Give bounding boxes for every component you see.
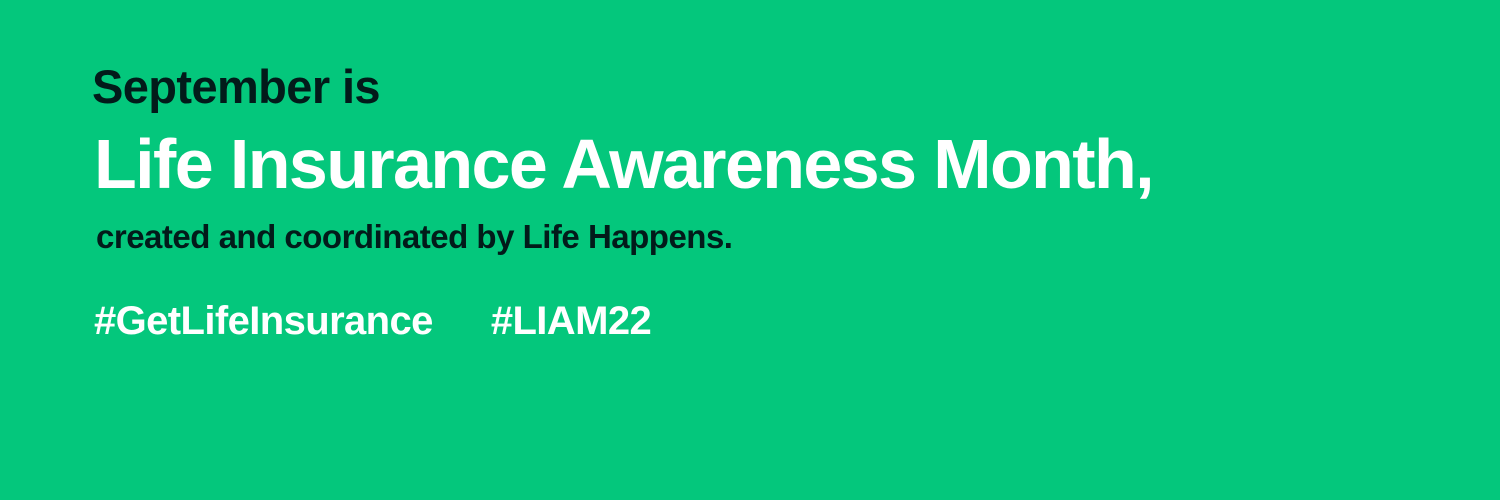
banner-eyebrow: September is (92, 62, 1452, 112)
hashtag-liam22[interactable]: #LIAM22 (491, 299, 651, 343)
hashtag-get-life-insurance[interactable]: #GetLifeInsurance (94, 299, 433, 343)
banner-headline: Life Insurance Awareness Month, (94, 126, 1452, 203)
hashtag-row: #GetLifeInsurance #LIAM22 (94, 299, 1452, 343)
banner-text-block: September is Life Insurance Awareness Mo… (92, 62, 1452, 343)
banner-subline: created and coordinated by Life Happens. (96, 219, 1452, 255)
promo-banner: September is Life Insurance Awareness Mo… (0, 0, 1500, 500)
